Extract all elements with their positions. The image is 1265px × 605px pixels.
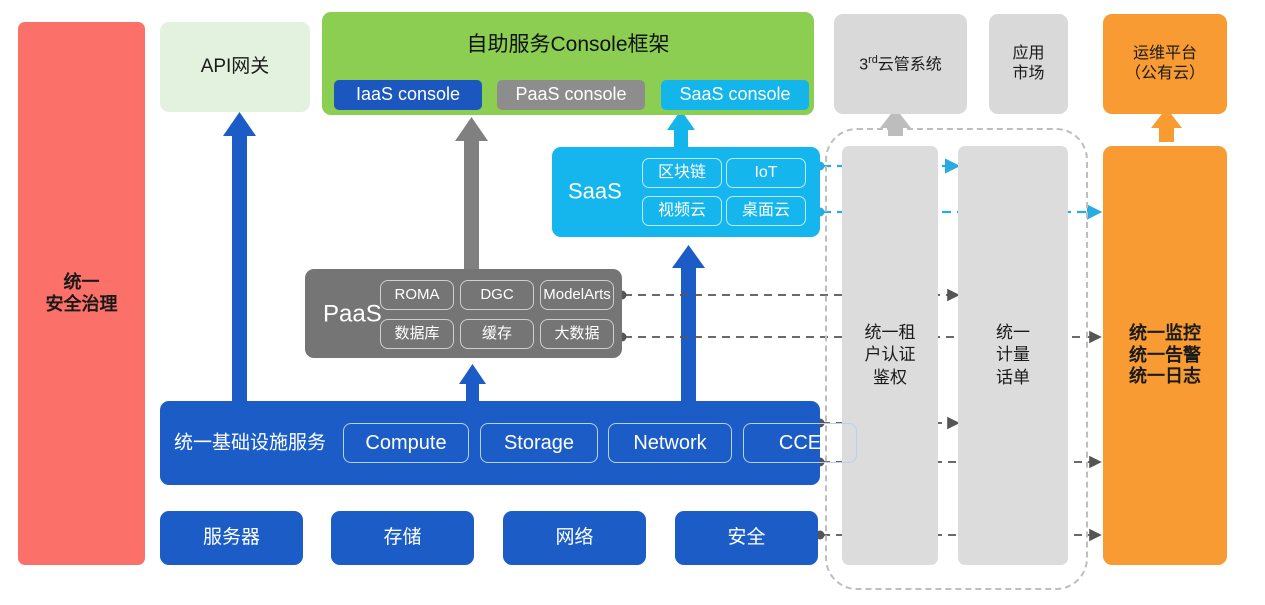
hardware-box-server[interactable]: 服务器 bbox=[160, 511, 303, 565]
third-party-label: 3rd云管系统 bbox=[859, 54, 942, 75]
arrow-paas-to-console bbox=[455, 117, 488, 270]
tenant-auth-line-1: 统一租 bbox=[865, 322, 916, 344]
app-market-line-2: 市场 bbox=[1012, 64, 1044, 84]
app-market-line-1: 应用 bbox=[1012, 44, 1044, 64]
ops-panel-line-2: 统一告警 bbox=[1129, 345, 1201, 367]
tenant-auth-line-3: 鉴权 bbox=[873, 367, 907, 389]
arrow-iaas-to-saas bbox=[672, 245, 705, 407]
paas-chip-cache[interactable]: 缓存 bbox=[460, 319, 534, 349]
api-gateway-box[interactable]: API网关 bbox=[160, 22, 310, 112]
hardware-label-network: 网络 bbox=[555, 526, 593, 549]
self-service-console-framework[interactable]: 自助服务Console框架 IaaS console PaaS console … bbox=[322, 12, 814, 115]
unified-tenant-auth-column[interactable]: 统一租 户认证 鉴权 bbox=[842, 146, 938, 565]
ops-platform-panel[interactable]: 统一监控 统一告警 统一日志 bbox=[1103, 146, 1227, 565]
paas-block[interactable]: PaaS ROMA DGC ModelArts 数据库 缓存 大数据 bbox=[305, 269, 622, 358]
saas-block[interactable]: SaaS 区块链 IoT 视频云 桌面云 bbox=[552, 147, 820, 237]
saas-chip-video-cloud[interactable]: 视频云 bbox=[642, 196, 722, 226]
paas-chip-roma[interactable]: ROMA bbox=[380, 280, 454, 310]
architecture-diagram: 统一 安全治理 API网关 自助服务Console框架 IaaS console… bbox=[0, 0, 1265, 605]
arrow-iaas-to-paas bbox=[459, 364, 486, 406]
third-party-cloud-management-box[interactable]: 3rd云管系统 bbox=[834, 14, 967, 114]
hardware-box-storage[interactable]: 存储 bbox=[331, 511, 474, 565]
saas-console-pill[interactable]: SaaS console bbox=[661, 80, 809, 110]
saas-label: SaaS bbox=[568, 179, 622, 206]
hardware-label-server: 服务器 bbox=[203, 526, 260, 549]
saas-chip-iot[interactable]: IoT bbox=[726, 158, 806, 188]
saas-chip-desktop-cloud[interactable]: 桌面云 bbox=[726, 196, 806, 226]
iaas-chip-cce[interactable]: CCE bbox=[743, 423, 857, 463]
paas-chip-dgc[interactable]: DGC bbox=[460, 280, 534, 310]
tenant-auth-line-2: 户认证 bbox=[865, 344, 916, 366]
metering-line-1: 统一 bbox=[996, 322, 1030, 344]
metering-line-2: 计量 bbox=[996, 344, 1030, 366]
hardware-box-network[interactable]: 网络 bbox=[503, 511, 646, 565]
paas-console-pill[interactable]: PaaS console bbox=[497, 80, 645, 110]
third-party-suffix: 云管系统 bbox=[878, 56, 942, 73]
ops-panel-line-3: 统一日志 bbox=[1129, 366, 1201, 388]
hardware-label-storage: 存储 bbox=[383, 526, 421, 549]
unified-infrastructure-service-bar[interactable]: 统一基础设施服务 Compute Storage Network CCE bbox=[160, 401, 820, 485]
paas-chip-database[interactable]: 数据库 bbox=[380, 319, 454, 349]
paas-label: PaaS bbox=[323, 299, 382, 328]
iaas-chip-compute[interactable]: Compute bbox=[343, 423, 469, 463]
iaas-console-pill[interactable]: IaaS console bbox=[334, 80, 482, 110]
iaas-chip-network[interactable]: Network bbox=[608, 423, 732, 463]
security-line-1: 统一 bbox=[64, 272, 100, 294]
iaas-label: 统一基础设施服务 bbox=[174, 431, 326, 454]
arrow-saas-to-console bbox=[667, 110, 695, 151]
ops-panel-line-1: 统一监控 bbox=[1129, 323, 1201, 345]
metering-line-3: 话单 bbox=[996, 367, 1030, 389]
unified-security-governance-panel[interactable]: 统一 安全治理 bbox=[18, 22, 145, 565]
api-gateway-label: API网关 bbox=[201, 55, 270, 78]
paas-chip-modelarts[interactable]: ModelArts bbox=[540, 280, 614, 310]
paas-chip-bigdata[interactable]: 大数据 bbox=[540, 319, 614, 349]
hardware-label-security: 安全 bbox=[727, 526, 765, 549]
ops-platform-top-box[interactable]: 运维平台 （公有云） bbox=[1103, 14, 1227, 114]
app-market-box[interactable]: 应用 市场 bbox=[989, 14, 1068, 114]
security-line-2: 安全治理 bbox=[46, 294, 118, 316]
third-party-superscript: rd bbox=[868, 54, 878, 66]
console-framework-title: 自助服务Console框架 bbox=[322, 32, 814, 58]
ops-platform-top-line-2: （公有云） bbox=[1125, 64, 1205, 84]
unified-metering-billing-column[interactable]: 统一 计量 话单 bbox=[958, 146, 1068, 565]
third-party-prefix: 3 bbox=[859, 56, 868, 73]
arrow-iaas-to-api-gateway bbox=[223, 112, 256, 405]
ops-platform-top-line-1: 运维平台 bbox=[1133, 44, 1197, 64]
hardware-box-security[interactable]: 安全 bbox=[675, 511, 818, 565]
iaas-chip-storage[interactable]: Storage bbox=[480, 423, 598, 463]
saas-chip-blockchain[interactable]: 区块链 bbox=[642, 158, 722, 188]
